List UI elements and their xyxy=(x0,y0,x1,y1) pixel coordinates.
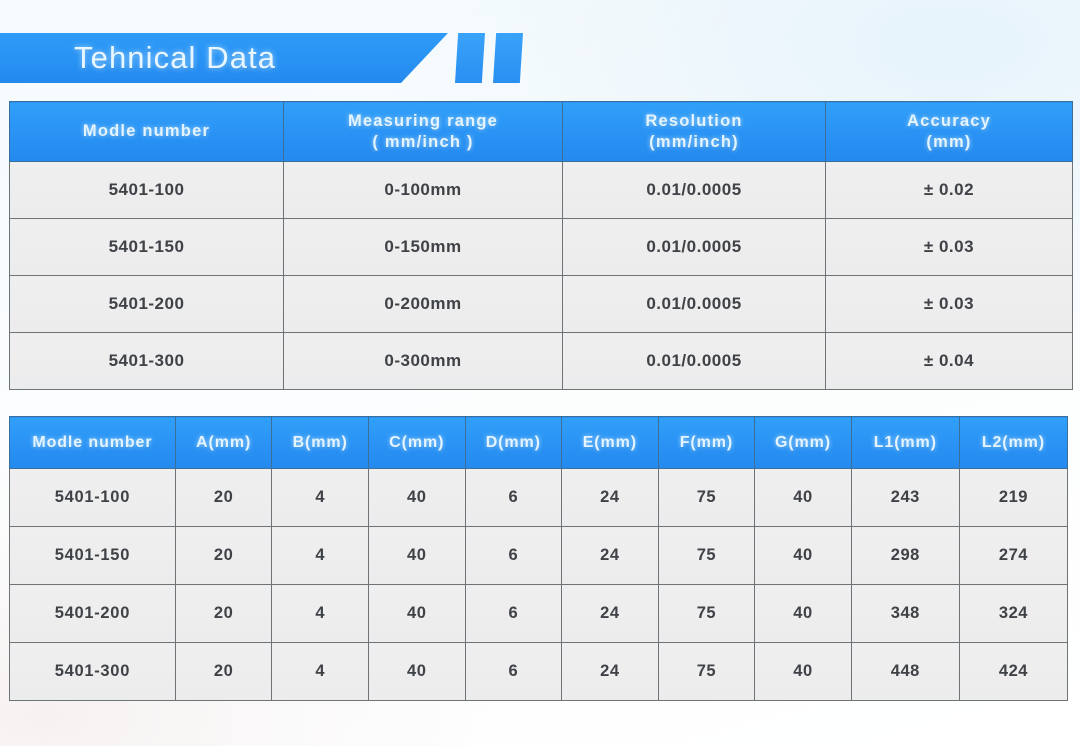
cell-model-number: 5401-100 xyxy=(10,469,176,527)
column-header-c: C(mm) xyxy=(368,417,465,469)
table-row: 5401-200 20 4 40 6 24 75 40 348 324 xyxy=(10,585,1068,643)
table-row: 5401-150 20 4 40 6 24 75 40 298 274 xyxy=(10,527,1068,585)
cell-model-number: 5401-200 xyxy=(10,585,176,643)
page-title: Tehnical Data xyxy=(0,33,448,83)
cell-dim-g: 40 xyxy=(755,527,852,585)
header-line-1: Resolution xyxy=(645,112,742,130)
dimensions-table: Modle number A(mm) B(mm) C(mm) D(mm) E(m… xyxy=(9,416,1068,701)
table-row: 5401-150 0-150mm 0.01/0.0005 ± 0.03 xyxy=(10,219,1073,276)
header-line-2: (mm) xyxy=(926,133,971,151)
cell-dim-l2: 324 xyxy=(959,585,1067,643)
cell-dim-b: 4 xyxy=(272,643,369,701)
cell-dim-f: 75 xyxy=(658,527,755,585)
spec-sheet-page: Tehnical Data Modle number Measuring ran… xyxy=(0,0,1080,746)
column-header-model-number: Modle number xyxy=(10,417,176,469)
cell-resolution: 0.01/0.0005 xyxy=(563,276,826,333)
table-row: 5401-300 20 4 40 6 24 75 40 448 424 xyxy=(10,643,1068,701)
cell-dim-l1: 348 xyxy=(851,585,959,643)
header-line-2: ( mm/inch ) xyxy=(372,133,473,151)
column-header-g: G(mm) xyxy=(755,417,852,469)
cell-dim-l2: 219 xyxy=(959,469,1067,527)
cell-dim-f: 75 xyxy=(658,469,755,527)
cell-dim-a: 20 xyxy=(175,527,272,585)
cell-accuracy: ± 0.03 xyxy=(826,276,1073,333)
cell-dim-d: 6 xyxy=(465,643,562,701)
header-line-2: (mm/inch) xyxy=(649,133,739,151)
cell-dim-e: 24 xyxy=(562,527,659,585)
header-line-1: Accuracy xyxy=(907,112,991,130)
column-header-accuracy: Accuracy (mm) xyxy=(826,102,1073,162)
cell-dim-g: 40 xyxy=(755,585,852,643)
cell-dim-c: 40 xyxy=(368,527,465,585)
column-header-f: F(mm) xyxy=(658,417,755,469)
technical-specifications-table: Modle number Measuring range ( mm/inch )… xyxy=(9,101,1073,390)
cell-dim-d: 6 xyxy=(465,527,562,585)
header-line-1: Modle number xyxy=(83,122,210,140)
banner-stripe-2 xyxy=(493,33,523,83)
cell-dim-l2: 424 xyxy=(959,643,1067,701)
cell-dim-l2: 274 xyxy=(959,527,1067,585)
cell-dim-a: 20 xyxy=(175,585,272,643)
cell-dim-c: 40 xyxy=(368,469,465,527)
cell-dim-b: 4 xyxy=(272,585,369,643)
cell-dim-d: 6 xyxy=(465,469,562,527)
cell-dim-b: 4 xyxy=(272,469,369,527)
cell-dim-l1: 243 xyxy=(851,469,959,527)
table-row: 5401-200 0-200mm 0.01/0.0005 ± 0.03 xyxy=(10,276,1073,333)
column-header-measuring-range: Measuring range ( mm/inch ) xyxy=(284,102,563,162)
column-header-b: B(mm) xyxy=(272,417,369,469)
cell-accuracy: ± 0.03 xyxy=(826,219,1073,276)
cell-dim-l1: 448 xyxy=(851,643,959,701)
cell-dim-e: 24 xyxy=(562,585,659,643)
cell-model-number: 5401-300 xyxy=(10,333,284,390)
cell-dim-g: 40 xyxy=(755,643,852,701)
column-header-l1: L1(mm) xyxy=(851,417,959,469)
table-row: 5401-100 20 4 40 6 24 75 40 243 219 xyxy=(10,469,1068,527)
banner-stripe-1 xyxy=(455,33,485,83)
cell-measuring-range: 0-300mm xyxy=(284,333,563,390)
cell-resolution: 0.01/0.0005 xyxy=(563,219,826,276)
cell-model-number: 5401-300 xyxy=(10,643,176,701)
cell-accuracy: ± 0.04 xyxy=(826,333,1073,390)
cell-resolution: 0.01/0.0005 xyxy=(563,162,826,219)
table-row: 5401-100 0-100mm 0.01/0.0005 ± 0.02 xyxy=(10,162,1073,219)
cell-accuracy: ± 0.02 xyxy=(826,162,1073,219)
table-header-row: Modle number A(mm) B(mm) C(mm) D(mm) E(m… xyxy=(10,417,1068,469)
cell-model-number: 5401-150 xyxy=(10,527,176,585)
table-header-row: Modle number Measuring range ( mm/inch )… xyxy=(10,102,1073,162)
column-header-model-number: Modle number xyxy=(10,102,284,162)
column-header-d: D(mm) xyxy=(465,417,562,469)
cell-dim-e: 24 xyxy=(562,643,659,701)
cell-dim-g: 40 xyxy=(755,469,852,527)
cell-dim-e: 24 xyxy=(562,469,659,527)
title-banner: Tehnical Data xyxy=(0,33,540,83)
cell-dim-l1: 298 xyxy=(851,527,959,585)
cell-model-number: 5401-100 xyxy=(10,162,284,219)
cell-model-number: 5401-200 xyxy=(10,276,284,333)
cell-dim-c: 40 xyxy=(368,585,465,643)
column-header-a: A(mm) xyxy=(175,417,272,469)
cell-measuring-range: 0-200mm xyxy=(284,276,563,333)
cell-dim-a: 20 xyxy=(175,643,272,701)
column-header-l2: L2(mm) xyxy=(959,417,1067,469)
cell-dim-f: 75 xyxy=(658,585,755,643)
cell-model-number: 5401-150 xyxy=(10,219,284,276)
cell-resolution: 0.01/0.0005 xyxy=(563,333,826,390)
cell-dim-f: 75 xyxy=(658,643,755,701)
column-header-e: E(mm) xyxy=(562,417,659,469)
cell-dim-c: 40 xyxy=(368,643,465,701)
cell-dim-d: 6 xyxy=(465,585,562,643)
cell-measuring-range: 0-100mm xyxy=(284,162,563,219)
column-header-resolution: Resolution (mm/inch) xyxy=(563,102,826,162)
header-line-1: Measuring range xyxy=(348,112,498,130)
cell-measuring-range: 0-150mm xyxy=(284,219,563,276)
cell-dim-b: 4 xyxy=(272,527,369,585)
table-row: 5401-300 0-300mm 0.01/0.0005 ± 0.04 xyxy=(10,333,1073,390)
cell-dim-a: 20 xyxy=(175,469,272,527)
